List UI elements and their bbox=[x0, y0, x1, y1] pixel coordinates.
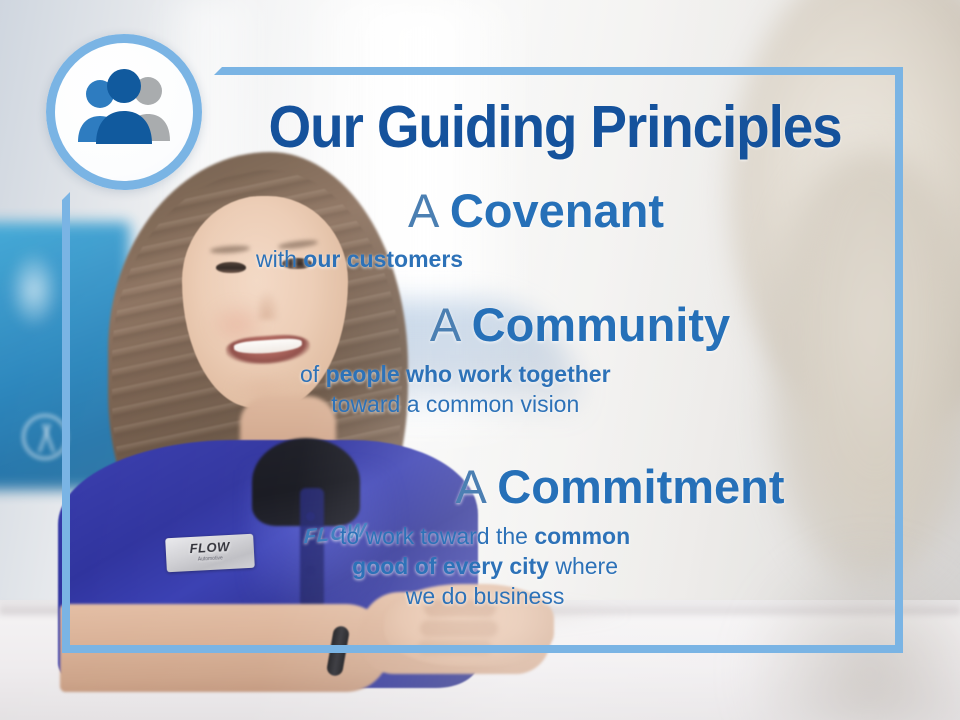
employee-nose bbox=[258, 290, 280, 320]
principle-block-covenant: A Covenant with our customers bbox=[256, 186, 816, 236]
display-screen-highlight bbox=[8, 250, 60, 330]
principle-keyword-community: Community bbox=[472, 298, 731, 351]
principle-description-line: we do business bbox=[340, 582, 630, 612]
principle-description-line: with our customers bbox=[256, 245, 463, 275]
principle-keyword-covenant: Covenant bbox=[450, 184, 664, 237]
principle-headline-commitment: A Commitment bbox=[340, 462, 900, 512]
principle-article-commitment: A bbox=[455, 460, 484, 513]
employee-eye-left bbox=[216, 262, 246, 273]
name-badge-subtext: Automotive bbox=[166, 555, 254, 565]
principle-article-community: A bbox=[430, 298, 459, 351]
people-group-icon bbox=[74, 68, 174, 152]
principle-article-covenant: A bbox=[408, 184, 437, 237]
principle-headline-community: A Community bbox=[300, 300, 860, 350]
vw-logo-icon bbox=[22, 414, 68, 460]
principles-badge bbox=[46, 34, 202, 190]
name-badge-brand: FLOW bbox=[165, 539, 254, 557]
principle-headline-covenant: A Covenant bbox=[256, 186, 816, 236]
employee-finger-2 bbox=[420, 620, 498, 637]
principle-description-covenant: with our customers bbox=[256, 245, 463, 275]
poster-title: Our Guiding Principles bbox=[243, 96, 866, 158]
principle-description-line: to work toward the common bbox=[340, 522, 630, 552]
principle-block-community: A Community of people who work togethert… bbox=[300, 300, 860, 350]
foreground-customer-shoulder bbox=[740, 540, 960, 720]
polo-button-bottom bbox=[306, 566, 315, 575]
polo-button-top bbox=[306, 512, 315, 521]
principle-description-commitment: to work toward the commongood of every c… bbox=[340, 522, 630, 612]
employee-name-badge: FLOW Automotive bbox=[165, 534, 255, 573]
principle-description-community: of people who work togethertoward a comm… bbox=[300, 360, 611, 420]
employee-finger-3 bbox=[418, 640, 492, 655]
principle-keyword-commitment: Commitment bbox=[497, 460, 784, 513]
guiding-principles-poster: FLOW Automotive FLOW bbox=[0, 0, 960, 720]
principle-description-line: of people who work together bbox=[300, 360, 611, 390]
principle-description-line: good of every city where bbox=[340, 552, 630, 582]
principle-description-line: toward a common vision bbox=[300, 390, 611, 420]
principle-block-commitment: A Commitment to work toward the commongo… bbox=[340, 462, 900, 512]
